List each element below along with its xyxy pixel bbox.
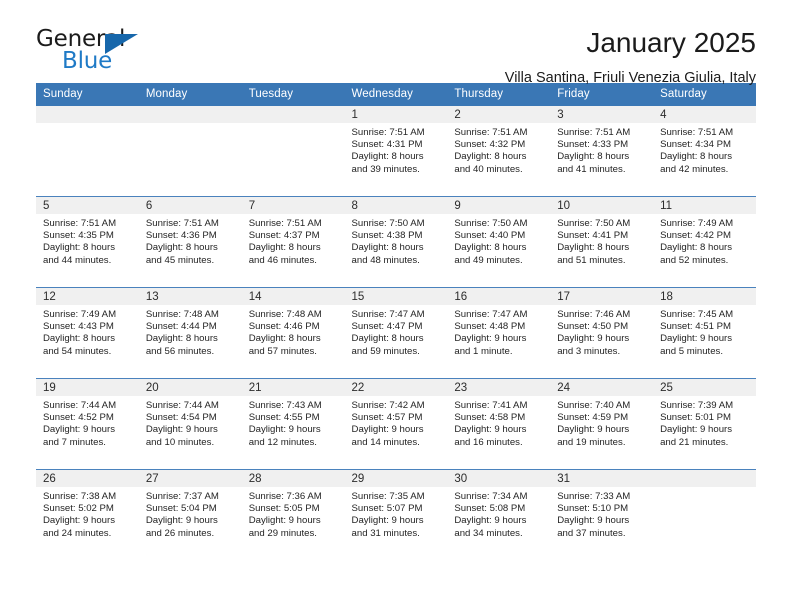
- daylight-text-line2: and 21 minutes.: [660, 437, 750, 449]
- day-details: Sunrise: 7:38 AM Sunset: 5:02 PM Dayligh…: [36, 487, 139, 540]
- daylight-text-line2: and 52 minutes.: [660, 255, 750, 267]
- daylight-text-line1: Daylight: 8 hours: [249, 333, 339, 345]
- day-number: 6: [139, 197, 242, 214]
- daylight-text-line2: and 5 minutes.: [660, 346, 750, 358]
- day-details: Sunrise: 7:46 AM Sunset: 4:50 PM Dayligh…: [550, 305, 653, 358]
- calendar-week-row: 19 Sunrise: 7:44 AM Sunset: 4:52 PM Dayl…: [36, 379, 756, 470]
- calendar-week-row: 5 Sunrise: 7:51 AM Sunset: 4:35 PM Dayli…: [36, 197, 756, 288]
- sunrise-text: Sunrise: 7:50 AM: [352, 218, 442, 230]
- day-cell[interactable]: 30 Sunrise: 7:34 AM Sunset: 5:08 PM Dayl…: [447, 470, 550, 561]
- day-number: 3: [550, 106, 653, 123]
- day-details: Sunrise: 7:36 AM Sunset: 5:05 PM Dayligh…: [242, 487, 345, 540]
- day-number: 8: [345, 197, 448, 214]
- day-details: Sunrise: 7:45 AM Sunset: 4:51 PM Dayligh…: [653, 305, 756, 358]
- sunset-text: Sunset: 4:37 PM: [249, 230, 339, 242]
- day-cell[interactable]: 25 Sunrise: 7:39 AM Sunset: 5:01 PM Dayl…: [653, 379, 756, 470]
- daylight-text-line1: Daylight: 8 hours: [352, 242, 442, 254]
- daylight-text-line1: Daylight: 8 hours: [352, 333, 442, 345]
- sunset-text: Sunset: 4:52 PM: [43, 412, 133, 424]
- daylight-text-line1: Daylight: 8 hours: [43, 333, 133, 345]
- day-details: Sunrise: 7:51 AM Sunset: 4:32 PM Dayligh…: [447, 123, 550, 176]
- weekday-header-sunday: Sunday: [36, 83, 139, 106]
- day-cell[interactable]: 18 Sunrise: 7:45 AM Sunset: 4:51 PM Dayl…: [653, 288, 756, 379]
- day-details: Sunrise: 7:51 AM Sunset: 4:35 PM Dayligh…: [36, 214, 139, 267]
- day-cell[interactable]: 21 Sunrise: 7:43 AM Sunset: 4:55 PM Dayl…: [242, 379, 345, 470]
- day-number: [139, 106, 242, 123]
- calendar-body: 1 Sunrise: 7:51 AM Sunset: 4:31 PM Dayli…: [36, 106, 756, 560]
- day-details: Sunrise: 7:44 AM Sunset: 4:54 PM Dayligh…: [139, 396, 242, 449]
- day-number: 5: [36, 197, 139, 214]
- sunset-text: Sunset: 4:34 PM: [660, 139, 750, 151]
- daylight-text-line2: and 45 minutes.: [146, 255, 236, 267]
- day-cell[interactable]: 4 Sunrise: 7:51 AM Sunset: 4:34 PM Dayli…: [653, 106, 756, 197]
- daylight-text-line1: Daylight: 9 hours: [352, 424, 442, 436]
- day-details: Sunrise: 7:47 AM Sunset: 4:48 PM Dayligh…: [447, 305, 550, 358]
- day-details: Sunrise: 7:51 AM Sunset: 4:33 PM Dayligh…: [550, 123, 653, 176]
- daylight-text-line1: Daylight: 9 hours: [454, 424, 544, 436]
- calendar-week-row: 1 Sunrise: 7:51 AM Sunset: 4:31 PM Dayli…: [36, 106, 756, 197]
- daylight-text-line2: and 34 minutes.: [454, 528, 544, 540]
- daylight-text-line2: and 44 minutes.: [43, 255, 133, 267]
- sunset-text: Sunset: 5:05 PM: [249, 503, 339, 515]
- weekday-header-wednesday: Wednesday: [345, 83, 448, 106]
- daylight-text-line2: and 7 minutes.: [43, 437, 133, 449]
- day-number: 30: [447, 470, 550, 487]
- logo-text-blue: Blue: [62, 48, 112, 74]
- daylight-text-line1: Daylight: 8 hours: [146, 242, 236, 254]
- daylight-text-line1: Daylight: 9 hours: [146, 515, 236, 527]
- sunrise-text: Sunrise: 7:45 AM: [660, 309, 750, 321]
- daylight-text-line2: and 31 minutes.: [352, 528, 442, 540]
- day-details: Sunrise: 7:39 AM Sunset: 5:01 PM Dayligh…: [653, 396, 756, 449]
- daylight-text-line2: and 24 minutes.: [43, 528, 133, 540]
- day-cell[interactable]: 1 Sunrise: 7:51 AM Sunset: 4:31 PM Dayli…: [345, 106, 448, 197]
- day-details: Sunrise: 7:42 AM Sunset: 4:57 PM Dayligh…: [345, 396, 448, 449]
- sunset-text: Sunset: 5:04 PM: [146, 503, 236, 515]
- day-details: Sunrise: 7:50 AM Sunset: 4:40 PM Dayligh…: [447, 214, 550, 267]
- sunrise-text: Sunrise: 7:34 AM: [454, 491, 544, 503]
- daylight-text-line1: Daylight: 8 hours: [352, 151, 442, 163]
- day-cell[interactable]: 15 Sunrise: 7:47 AM Sunset: 4:47 PM Dayl…: [345, 288, 448, 379]
- day-details: Sunrise: 7:48 AM Sunset: 4:46 PM Dayligh…: [242, 305, 345, 358]
- daylight-text-line2: and 26 minutes.: [146, 528, 236, 540]
- day-details: Sunrise: 7:37 AM Sunset: 5:04 PM Dayligh…: [139, 487, 242, 540]
- sunset-text: Sunset: 4:59 PM: [557, 412, 647, 424]
- calendar-week-row: 26 Sunrise: 7:38 AM Sunset: 5:02 PM Dayl…: [36, 470, 756, 561]
- day-cell[interactable]: 20 Sunrise: 7:44 AM Sunset: 4:54 PM Dayl…: [139, 379, 242, 470]
- day-cell[interactable]: 10 Sunrise: 7:50 AM Sunset: 4:41 PM Dayl…: [550, 197, 653, 288]
- sunset-text: Sunset: 4:54 PM: [146, 412, 236, 424]
- sunrise-text: Sunrise: 7:51 AM: [454, 127, 544, 139]
- sunrise-text: Sunrise: 7:47 AM: [454, 309, 544, 321]
- sunset-text: Sunset: 5:10 PM: [557, 503, 647, 515]
- day-number: 12: [36, 288, 139, 305]
- day-details: Sunrise: 7:34 AM Sunset: 5:08 PM Dayligh…: [447, 487, 550, 540]
- sunrise-text: Sunrise: 7:46 AM: [557, 309, 647, 321]
- daylight-text-line1: Daylight: 8 hours: [557, 151, 647, 163]
- sunrise-text: Sunrise: 7:48 AM: [146, 309, 236, 321]
- sunrise-text: Sunrise: 7:44 AM: [43, 400, 133, 412]
- day-cell[interactable]: 14 Sunrise: 7:48 AM Sunset: 4:46 PM Dayl…: [242, 288, 345, 379]
- sunset-text: Sunset: 5:02 PM: [43, 503, 133, 515]
- day-cell[interactable]: 16 Sunrise: 7:47 AM Sunset: 4:48 PM Dayl…: [447, 288, 550, 379]
- daylight-text-line1: Daylight: 8 hours: [43, 242, 133, 254]
- day-number: 23: [447, 379, 550, 396]
- sunset-text: Sunset: 4:44 PM: [146, 321, 236, 333]
- day-details: Sunrise: 7:43 AM Sunset: 4:55 PM Dayligh…: [242, 396, 345, 449]
- daylight-text-line1: Daylight: 9 hours: [43, 515, 133, 527]
- daylight-text-line1: Daylight: 8 hours: [454, 151, 544, 163]
- day-details: Sunrise: 7:35 AM Sunset: 5:07 PM Dayligh…: [345, 487, 448, 540]
- sunset-text: Sunset: 4:38 PM: [352, 230, 442, 242]
- day-number: 20: [139, 379, 242, 396]
- daylight-text-line1: Daylight: 9 hours: [660, 333, 750, 345]
- daylight-text-line2: and 57 minutes.: [249, 346, 339, 358]
- weekday-header-monday: Monday: [139, 83, 242, 106]
- day-cell[interactable]: 11 Sunrise: 7:49 AM Sunset: 4:42 PM Dayl…: [653, 197, 756, 288]
- sunrise-text: Sunrise: 7:44 AM: [146, 400, 236, 412]
- day-number: 2: [447, 106, 550, 123]
- day-details: Sunrise: 7:47 AM Sunset: 4:47 PM Dayligh…: [345, 305, 448, 358]
- calendar-grid: Sunday Monday Tuesday Wednesday Thursday…: [36, 83, 756, 560]
- page-subtitle: Villa Santina, Friuli Venezia Giulia, It…: [505, 68, 756, 88]
- day-number: 15: [345, 288, 448, 305]
- day-details: Sunrise: 7:51 AM Sunset: 4:37 PM Dayligh…: [242, 214, 345, 267]
- daylight-text-line1: Daylight: 9 hours: [454, 333, 544, 345]
- day-number: 1: [345, 106, 448, 123]
- sunrise-text: Sunrise: 7:37 AM: [146, 491, 236, 503]
- daylight-text-line2: and 19 minutes.: [557, 437, 647, 449]
- day-details: Sunrise: 7:50 AM Sunset: 4:38 PM Dayligh…: [345, 214, 448, 267]
- day-details: Sunrise: 7:48 AM Sunset: 4:44 PM Dayligh…: [139, 305, 242, 358]
- daylight-text-line1: Daylight: 8 hours: [557, 242, 647, 254]
- day-number: 25: [653, 379, 756, 396]
- sunrise-text: Sunrise: 7:47 AM: [352, 309, 442, 321]
- day-number: [36, 106, 139, 123]
- daylight-text-line2: and 37 minutes.: [557, 528, 647, 540]
- sunset-text: Sunset: 4:41 PM: [557, 230, 647, 242]
- day-details: Sunrise: 7:51 AM Sunset: 4:31 PM Dayligh…: [345, 123, 448, 176]
- title-block: January 2025 Villa Santina, Friuli Venez…: [505, 26, 756, 88]
- daylight-text-line2: and 49 minutes.: [454, 255, 544, 267]
- sunrise-text: Sunrise: 7:36 AM: [249, 491, 339, 503]
- daylight-text-line2: and 59 minutes.: [352, 346, 442, 358]
- day-cell[interactable]: 9 Sunrise: 7:50 AM Sunset: 4:40 PM Dayli…: [447, 197, 550, 288]
- day-cell[interactable]: 29 Sunrise: 7:35 AM Sunset: 5:07 PM Dayl…: [345, 470, 448, 561]
- sunset-text: Sunset: 4:31 PM: [352, 139, 442, 151]
- sunrise-text: Sunrise: 7:48 AM: [249, 309, 339, 321]
- daylight-text-line1: Daylight: 9 hours: [249, 424, 339, 436]
- sunrise-text: Sunrise: 7:49 AM: [660, 218, 750, 230]
- sunset-text: Sunset: 4:42 PM: [660, 230, 750, 242]
- sunset-text: Sunset: 4:33 PM: [557, 139, 647, 151]
- sunrise-text: Sunrise: 7:51 AM: [660, 127, 750, 139]
- sunset-text: Sunset: 5:01 PM: [660, 412, 750, 424]
- day-cell[interactable]: 3 Sunrise: 7:51 AM Sunset: 4:33 PM Dayli…: [550, 106, 653, 197]
- daylight-text-line1: Daylight: 8 hours: [454, 242, 544, 254]
- day-number: 14: [242, 288, 345, 305]
- daylight-text-line1: Daylight: 9 hours: [43, 424, 133, 436]
- daylight-text-line1: Daylight: 9 hours: [352, 515, 442, 527]
- day-number: 10: [550, 197, 653, 214]
- day-number: 9: [447, 197, 550, 214]
- sunrise-text: Sunrise: 7:43 AM: [249, 400, 339, 412]
- sunset-text: Sunset: 4:48 PM: [454, 321, 544, 333]
- daylight-text-line2: and 41 minutes.: [557, 164, 647, 176]
- daylight-text-line1: Daylight: 9 hours: [557, 515, 647, 527]
- day-cell[interactable]: 24 Sunrise: 7:40 AM Sunset: 4:59 PM Dayl…: [550, 379, 653, 470]
- weekday-header-tuesday: Tuesday: [242, 83, 345, 106]
- daylight-text-line2: and 3 minutes.: [557, 346, 647, 358]
- day-number: [653, 470, 756, 487]
- sunrise-text: Sunrise: 7:51 AM: [249, 218, 339, 230]
- sunset-text: Sunset: 4:35 PM: [43, 230, 133, 242]
- day-number: 17: [550, 288, 653, 305]
- sunset-text: Sunset: 4:36 PM: [146, 230, 236, 242]
- sunrise-text: Sunrise: 7:50 AM: [557, 218, 647, 230]
- daylight-text-line1: Daylight: 9 hours: [660, 424, 750, 436]
- day-details: Sunrise: 7:40 AM Sunset: 4:59 PM Dayligh…: [550, 396, 653, 449]
- general-blue-logo[interactable]: General Blue: [36, 26, 167, 78]
- day-details: Sunrise: 7:33 AM Sunset: 5:10 PM Dayligh…: [550, 487, 653, 540]
- day-number: 19: [36, 379, 139, 396]
- day-cell[interactable]: 13 Sunrise: 7:48 AM Sunset: 4:44 PM Dayl…: [139, 288, 242, 379]
- day-cell[interactable]: 31 Sunrise: 7:33 AM Sunset: 5:10 PM Dayl…: [550, 470, 653, 561]
- daylight-text-line2: and 16 minutes.: [454, 437, 544, 449]
- daylight-text-line2: and 10 minutes.: [146, 437, 236, 449]
- daylight-text-line1: Daylight: 9 hours: [557, 333, 647, 345]
- daylight-text-line2: and 48 minutes.: [352, 255, 442, 267]
- sunset-text: Sunset: 4:43 PM: [43, 321, 133, 333]
- sunset-text: Sunset: 4:58 PM: [454, 412, 544, 424]
- daylight-text-line2: and 12 minutes.: [249, 437, 339, 449]
- day-cell[interactable]: 23 Sunrise: 7:41 AM Sunset: 4:58 PM Dayl…: [447, 379, 550, 470]
- day-cell[interactable]: [139, 106, 242, 197]
- day-number: 27: [139, 470, 242, 487]
- day-number: 21: [242, 379, 345, 396]
- sunrise-text: Sunrise: 7:51 AM: [352, 127, 442, 139]
- sunset-text: Sunset: 4:55 PM: [249, 412, 339, 424]
- day-cell[interactable]: 2 Sunrise: 7:51 AM Sunset: 4:32 PM Dayli…: [447, 106, 550, 197]
- day-cell[interactable]: 26 Sunrise: 7:38 AM Sunset: 5:02 PM Dayl…: [36, 470, 139, 561]
- day-number: 28: [242, 470, 345, 487]
- daylight-text-line2: and 54 minutes.: [43, 346, 133, 358]
- daylight-text-line2: and 14 minutes.: [352, 437, 442, 449]
- sunrise-text: Sunrise: 7:33 AM: [557, 491, 647, 503]
- day-number: 31: [550, 470, 653, 487]
- daylight-text-line2: and 1 minute.: [454, 346, 544, 358]
- sunrise-text: Sunrise: 7:51 AM: [557, 127, 647, 139]
- daylight-text-line1: Daylight: 9 hours: [454, 515, 544, 527]
- sunset-text: Sunset: 4:40 PM: [454, 230, 544, 242]
- day-cell[interactable]: 28 Sunrise: 7:36 AM Sunset: 5:05 PM Dayl…: [242, 470, 345, 561]
- day-details: Sunrise: 7:44 AM Sunset: 4:52 PM Dayligh…: [36, 396, 139, 449]
- page-title: January 2025: [505, 26, 756, 60]
- day-cell[interactable]: [36, 106, 139, 197]
- day-cell[interactable]: 7 Sunrise: 7:51 AM Sunset: 4:37 PM Dayli…: [242, 197, 345, 288]
- daylight-text-line2: and 51 minutes.: [557, 255, 647, 267]
- sunrise-text: Sunrise: 7:35 AM: [352, 491, 442, 503]
- day-cell[interactable]: 19 Sunrise: 7:44 AM Sunset: 4:52 PM Dayl…: [36, 379, 139, 470]
- day-number: 7: [242, 197, 345, 214]
- sunrise-text: Sunrise: 7:51 AM: [43, 218, 133, 230]
- day-details: Sunrise: 7:41 AM Sunset: 4:58 PM Dayligh…: [447, 396, 550, 449]
- day-cell[interactable]: 27 Sunrise: 7:37 AM Sunset: 5:04 PM Dayl…: [139, 470, 242, 561]
- sunrise-text: Sunrise: 7:39 AM: [660, 400, 750, 412]
- day-number: 18: [653, 288, 756, 305]
- day-details: Sunrise: 7:50 AM Sunset: 4:41 PM Dayligh…: [550, 214, 653, 267]
- sunrise-text: Sunrise: 7:41 AM: [454, 400, 544, 412]
- day-number: [242, 106, 345, 123]
- sunrise-text: Sunrise: 7:51 AM: [146, 218, 236, 230]
- calendar-page: General Blue January 2025 Villa Santina,…: [0, 0, 792, 612]
- daylight-text-line1: Daylight: 9 hours: [557, 424, 647, 436]
- day-number: 13: [139, 288, 242, 305]
- sunset-text: Sunset: 4:51 PM: [660, 321, 750, 333]
- sunset-text: Sunset: 4:50 PM: [557, 321, 647, 333]
- day-cell[interactable]: [242, 106, 345, 197]
- sunrise-text: Sunrise: 7:38 AM: [43, 491, 133, 503]
- daylight-text-line2: and 56 minutes.: [146, 346, 236, 358]
- day-cell[interactable]: [653, 470, 756, 561]
- sunset-text: Sunset: 4:32 PM: [454, 139, 544, 151]
- day-details: Sunrise: 7:51 AM Sunset: 4:34 PM Dayligh…: [653, 123, 756, 176]
- day-number: 4: [653, 106, 756, 123]
- day-details: Sunrise: 7:51 AM Sunset: 4:36 PM Dayligh…: [139, 214, 242, 267]
- day-cell[interactable]: 5 Sunrise: 7:51 AM Sunset: 4:35 PM Dayli…: [36, 197, 139, 288]
- daylight-text-line1: Daylight: 8 hours: [660, 242, 750, 254]
- day-cell[interactable]: 22 Sunrise: 7:42 AM Sunset: 4:57 PM Dayl…: [345, 379, 448, 470]
- calendar-week-row: 12 Sunrise: 7:49 AM Sunset: 4:43 PM Dayl…: [36, 288, 756, 379]
- day-cell[interactable]: 17 Sunrise: 7:46 AM Sunset: 4:50 PM Dayl…: [550, 288, 653, 379]
- daylight-text-line1: Daylight: 9 hours: [249, 515, 339, 527]
- daylight-text-line1: Daylight: 9 hours: [146, 424, 236, 436]
- page-header: General Blue January 2025 Villa Santina,…: [36, 0, 756, 72]
- daylight-text-line2: and 29 minutes.: [249, 528, 339, 540]
- daylight-text-line1: Daylight: 8 hours: [660, 151, 750, 163]
- day-number: 22: [345, 379, 448, 396]
- daylight-text-line1: Daylight: 8 hours: [146, 333, 236, 345]
- day-details: Sunrise: 7:49 AM Sunset: 4:43 PM Dayligh…: [36, 305, 139, 358]
- sunrise-text: Sunrise: 7:49 AM: [43, 309, 133, 321]
- day-number: 24: [550, 379, 653, 396]
- sunset-text: Sunset: 5:07 PM: [352, 503, 442, 515]
- sunrise-text: Sunrise: 7:50 AM: [454, 218, 544, 230]
- day-details: Sunrise: 7:49 AM Sunset: 4:42 PM Dayligh…: [653, 214, 756, 267]
- day-number: 11: [653, 197, 756, 214]
- sunset-text: Sunset: 4:46 PM: [249, 321, 339, 333]
- day-number: 26: [36, 470, 139, 487]
- daylight-text-line2: and 42 minutes.: [660, 164, 750, 176]
- sunrise-text: Sunrise: 7:40 AM: [557, 400, 647, 412]
- day-number: 29: [345, 470, 448, 487]
- daylight-text-line2: and 39 minutes.: [352, 164, 442, 176]
- day-number: 16: [447, 288, 550, 305]
- daylight-text-line2: and 46 minutes.: [249, 255, 339, 267]
- day-cell[interactable]: 6 Sunrise: 7:51 AM Sunset: 4:36 PM Dayli…: [139, 197, 242, 288]
- day-cell[interactable]: 8 Sunrise: 7:50 AM Sunset: 4:38 PM Dayli…: [345, 197, 448, 288]
- sunset-text: Sunset: 4:47 PM: [352, 321, 442, 333]
- day-cell[interactable]: 12 Sunrise: 7:49 AM Sunset: 4:43 PM Dayl…: [36, 288, 139, 379]
- sunset-text: Sunset: 5:08 PM: [454, 503, 544, 515]
- sunrise-text: Sunrise: 7:42 AM: [352, 400, 442, 412]
- sunset-text: Sunset: 4:57 PM: [352, 412, 442, 424]
- daylight-text-line2: and 40 minutes.: [454, 164, 544, 176]
- daylight-text-line1: Daylight: 8 hours: [249, 242, 339, 254]
